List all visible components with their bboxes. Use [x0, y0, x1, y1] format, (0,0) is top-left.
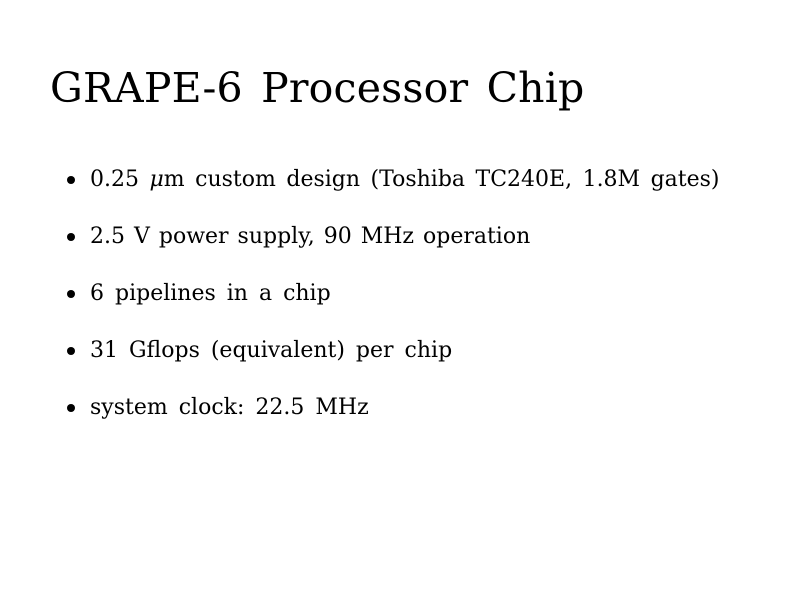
list-item-pipelines: 6 pipelines in a chip [64, 278, 754, 309]
bullet-point-icon [67, 347, 75, 355]
list-item-performance: 31 Gflops (equivalent) per chip [64, 335, 754, 366]
bullet-point-icon [67, 233, 75, 241]
page-title: GRAPE-6 Processor Chip [50, 66, 585, 110]
list-item-text: 0.25 μm custom design (Toshiba TC240E, 1… [90, 164, 738, 195]
micro-symbol: μ [149, 167, 163, 192]
list-item-power-supply: 2.5 V power supply, 90 MHz operation [64, 221, 754, 252]
list-item-text: 31 Gflops (equivalent) per chip [90, 335, 754, 366]
bullet-list: 0.25 μm custom design (Toshiba TC240E, 1… [64, 164, 754, 423]
list-item-process-design: 0.25 μm custom design (Toshiba TC240E, 1… [64, 164, 754, 195]
bullet-point-icon [67, 404, 75, 412]
bullet-text-prefix: 0.25 [90, 167, 149, 192]
list-item-text: 2.5 V power supply, 90 MHz operation [90, 221, 754, 252]
list-item-text: system clock: 22.5 MHz [90, 392, 754, 423]
list-item-system-clock: system clock: 22.5 MHz [64, 392, 754, 423]
presentation-slide: GRAPE-6 Processor Chip 0.25 μm custom de… [0, 0, 800, 600]
bullet-point-icon [67, 176, 75, 184]
bullet-text-suffix: m custom design (Toshiba TC240E, 1.8M ga… [164, 167, 720, 192]
list-item-text: 6 pipelines in a chip [90, 278, 754, 309]
bullet-point-icon [67, 290, 75, 298]
